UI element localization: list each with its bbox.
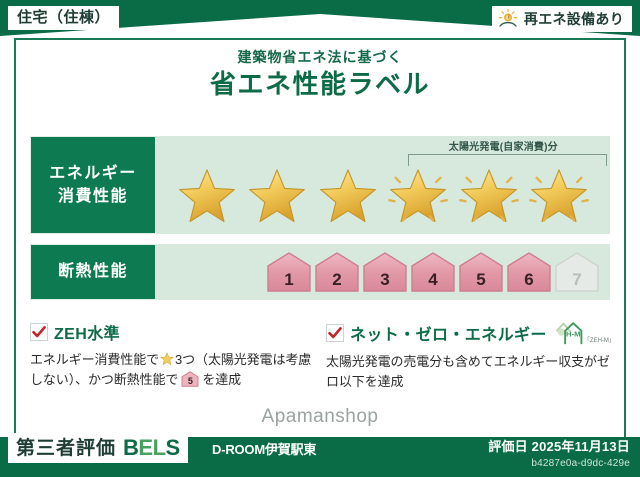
insulation-performance-row: 断熱性能 1: [30, 244, 610, 300]
star-1: [175, 165, 239, 227]
zeh-body-part1: エネルギー消費性能で: [30, 352, 159, 367]
house-5: 5: [458, 251, 504, 293]
house-level: 6: [524, 271, 533, 293]
star-2: [245, 165, 309, 227]
renewable-equipment-badge: 再エネ設備あり: [492, 6, 632, 32]
energy-performance-rating: 太陽光発電(自家消費)分: [156, 136, 610, 234]
house-3: 3: [362, 251, 408, 293]
house-1: 1: [266, 251, 312, 293]
insulation-performance-label-box: 断熱性能: [30, 244, 156, 300]
house-4: 4: [410, 251, 456, 293]
house-level: 3: [380, 271, 389, 293]
third-party-evaluation-label: 第三者評価: [16, 439, 116, 458]
star-5-solar: [457, 165, 521, 227]
net-zero-energy-note: ネット・ゼロ・エネルギー H-M 「ZEH-M」 太陽光発電の売電分も含めてエネ…: [326, 320, 614, 392]
star-6-solar: [527, 165, 591, 227]
nze-note-title: ネット・ゼロ・エネルギー: [350, 321, 547, 345]
star-3: [316, 165, 380, 227]
project-name: D-ROOM伊賀駅東: [212, 443, 316, 456]
bels-logo-plate: 第三者評価 BELS: [8, 433, 188, 463]
bels-wordmark: BELS: [123, 437, 180, 459]
energy-performance-label-text: エネルギー 消費性能: [49, 162, 137, 208]
housing-type-badge: 住宅（住棟）: [8, 6, 119, 30]
house-level: 7: [572, 271, 581, 293]
zeh-note-title: ZEH水準: [54, 320, 120, 344]
title-main: 省エネ性能ラベル: [0, 68, 640, 101]
house-level: 2: [332, 271, 341, 293]
house-7: 7: [554, 251, 600, 293]
house-level: 4: [428, 271, 437, 293]
bels-letter-s: S: [166, 435, 180, 460]
house-level: 1: [284, 271, 293, 293]
check-icon: [326, 324, 344, 342]
insulation-performance-label-text: 断熱性能: [58, 260, 128, 283]
renewable-equipment-label: 再エネ設備あり: [524, 11, 624, 27]
zeh-m-logo: H-M 「ZEH-M」: [554, 320, 614, 346]
inline-star-icon: [160, 352, 174, 366]
energy-performance-row: エネルギー 消費性能 太陽光発電(自家消費)分: [30, 136, 610, 234]
bels-letter-b: B: [123, 435, 138, 460]
footer-bar: 第三者評価 BELS D-ROOM伊賀駅東 評価日 2025年11月13日 b4…: [0, 437, 640, 477]
zeh-note-header: ZEH水準: [30, 320, 312, 344]
nze-note-body: 太陽光発電の売電分も含めてエネルギー収支がゼロ以下を達成: [326, 352, 614, 392]
nze-note-header: ネット・ゼロ・エネルギー H-M 「ZEH-M」: [326, 320, 614, 346]
evaluation-id: b4287e0a-d9dc-429e: [488, 457, 630, 471]
house-6: 6: [506, 251, 552, 293]
star-rating-group: [156, 164, 610, 228]
insulation-performance-rating: 1 2 3 4: [156, 244, 610, 300]
inline-house-level: 5: [180, 377, 200, 386]
evaluation-date: 評価日 2025年11月13日: [488, 439, 630, 456]
energy-performance-label-box: エネルギー 消費性能: [30, 136, 156, 234]
check-icon: [30, 323, 48, 341]
inline-house-icon: 5: [180, 371, 200, 387]
page-title: 建築物省エネ法に基づく 省エネ性能ラベル: [0, 48, 640, 101]
svg-text:H-M: H-M: [566, 329, 581, 338]
house-level: 5: [476, 271, 485, 293]
bels-letters-el: EL: [138, 435, 165, 460]
zeh-body-part3: を達成: [202, 372, 241, 387]
star-4-solar: [386, 165, 450, 227]
zeh-note-body: エネルギー消費性能で3つ（太陽光発電は考慮しない）、かつ断熱性能で5を達成: [30, 350, 312, 390]
house-2: 2: [314, 251, 360, 293]
solar-bracket-caption: 太陽光発電(自家消費)分: [397, 138, 610, 153]
zeh-m-logo-caption: 「ZEH-M」: [584, 335, 614, 346]
title-subtitle: 建築物省エネ法に基づく: [0, 48, 640, 66]
housing-type-label: 住宅（住棟）: [17, 9, 110, 26]
house-rating-group: 1 2 3 4: [156, 244, 610, 300]
energy-performance-label: 住宅（住棟） 再エネ設備あり 建築物省エネ法に基づく 省エネ性能ラベル: [0, 0, 640, 477]
footer-meta: 評価日 2025年11月13日 b4287e0a-d9dc-429e: [488, 439, 630, 471]
solar-sun-icon: [497, 8, 519, 30]
zeh-standard-note: ZEH水準 エネルギー消費性能で3つ（太陽光発電は考慮しない）、かつ断熱性能で5…: [30, 320, 312, 390]
